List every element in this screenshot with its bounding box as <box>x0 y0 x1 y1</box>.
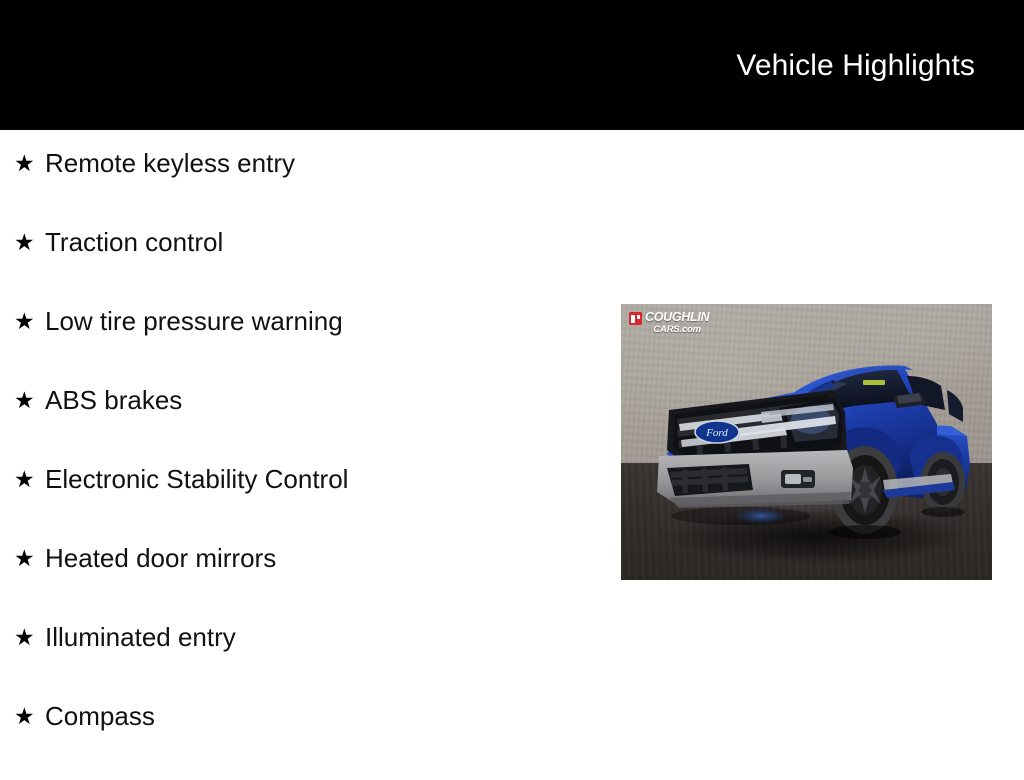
coughlin-logo-icon <box>629 312 642 325</box>
list-item-label: Compass <box>45 701 155 731</box>
page-title: Vehicle Highlights <box>736 49 975 83</box>
vehicle-photo: Ford CO <box>621 304 992 580</box>
watermark-text: COUGHLIN CARS.com <box>645 311 709 334</box>
list-item: ★ Low tire pressure warning <box>0 306 600 385</box>
list-item-label: Traction control <box>45 227 223 257</box>
list-item-label: Heated door mirrors <box>45 543 276 573</box>
truck-illustration: Ford <box>621 304 992 580</box>
svg-text:Ford: Ford <box>705 427 728 439</box>
list-item: ★ ABS brakes <box>0 385 600 464</box>
star-icon: ★ <box>14 227 34 257</box>
dealer-watermark: COUGHLIN CARS.com <box>629 311 709 334</box>
list-item: ★ Heated door mirrors <box>0 543 600 622</box>
list-item: ★ Remote keyless entry <box>0 148 600 227</box>
list-item: ★ Illuminated entry <box>0 622 600 701</box>
list-item-label: ABS brakes <box>45 385 182 415</box>
star-icon: ★ <box>14 701 34 731</box>
list-item-label: Electronic Stability Control <box>45 464 348 494</box>
watermark-brand: COUGHLIN <box>645 311 709 324</box>
star-icon: ★ <box>14 464 34 494</box>
list-item: ★ Electronic Stability Control <box>0 464 600 543</box>
list-item-label: Remote keyless entry <box>45 148 295 178</box>
list-item-label: Low tire pressure warning <box>45 306 343 336</box>
star-icon: ★ <box>14 543 34 573</box>
star-icon: ★ <box>14 306 34 336</box>
watermark-domain: CARS.com <box>645 325 709 335</box>
star-icon: ★ <box>14 385 34 415</box>
list-item-label: Illuminated entry <box>45 622 236 652</box>
vehicle-highlights-list: ★ Remote keyless entry ★ Traction contro… <box>0 148 600 780</box>
star-icon: ★ <box>14 148 34 178</box>
header-bar: Vehicle Highlights <box>0 0 1024 130</box>
star-icon: ★ <box>14 622 34 652</box>
list-item: ★ Traction control <box>0 227 600 306</box>
list-item: ★ Compass <box>0 701 600 780</box>
